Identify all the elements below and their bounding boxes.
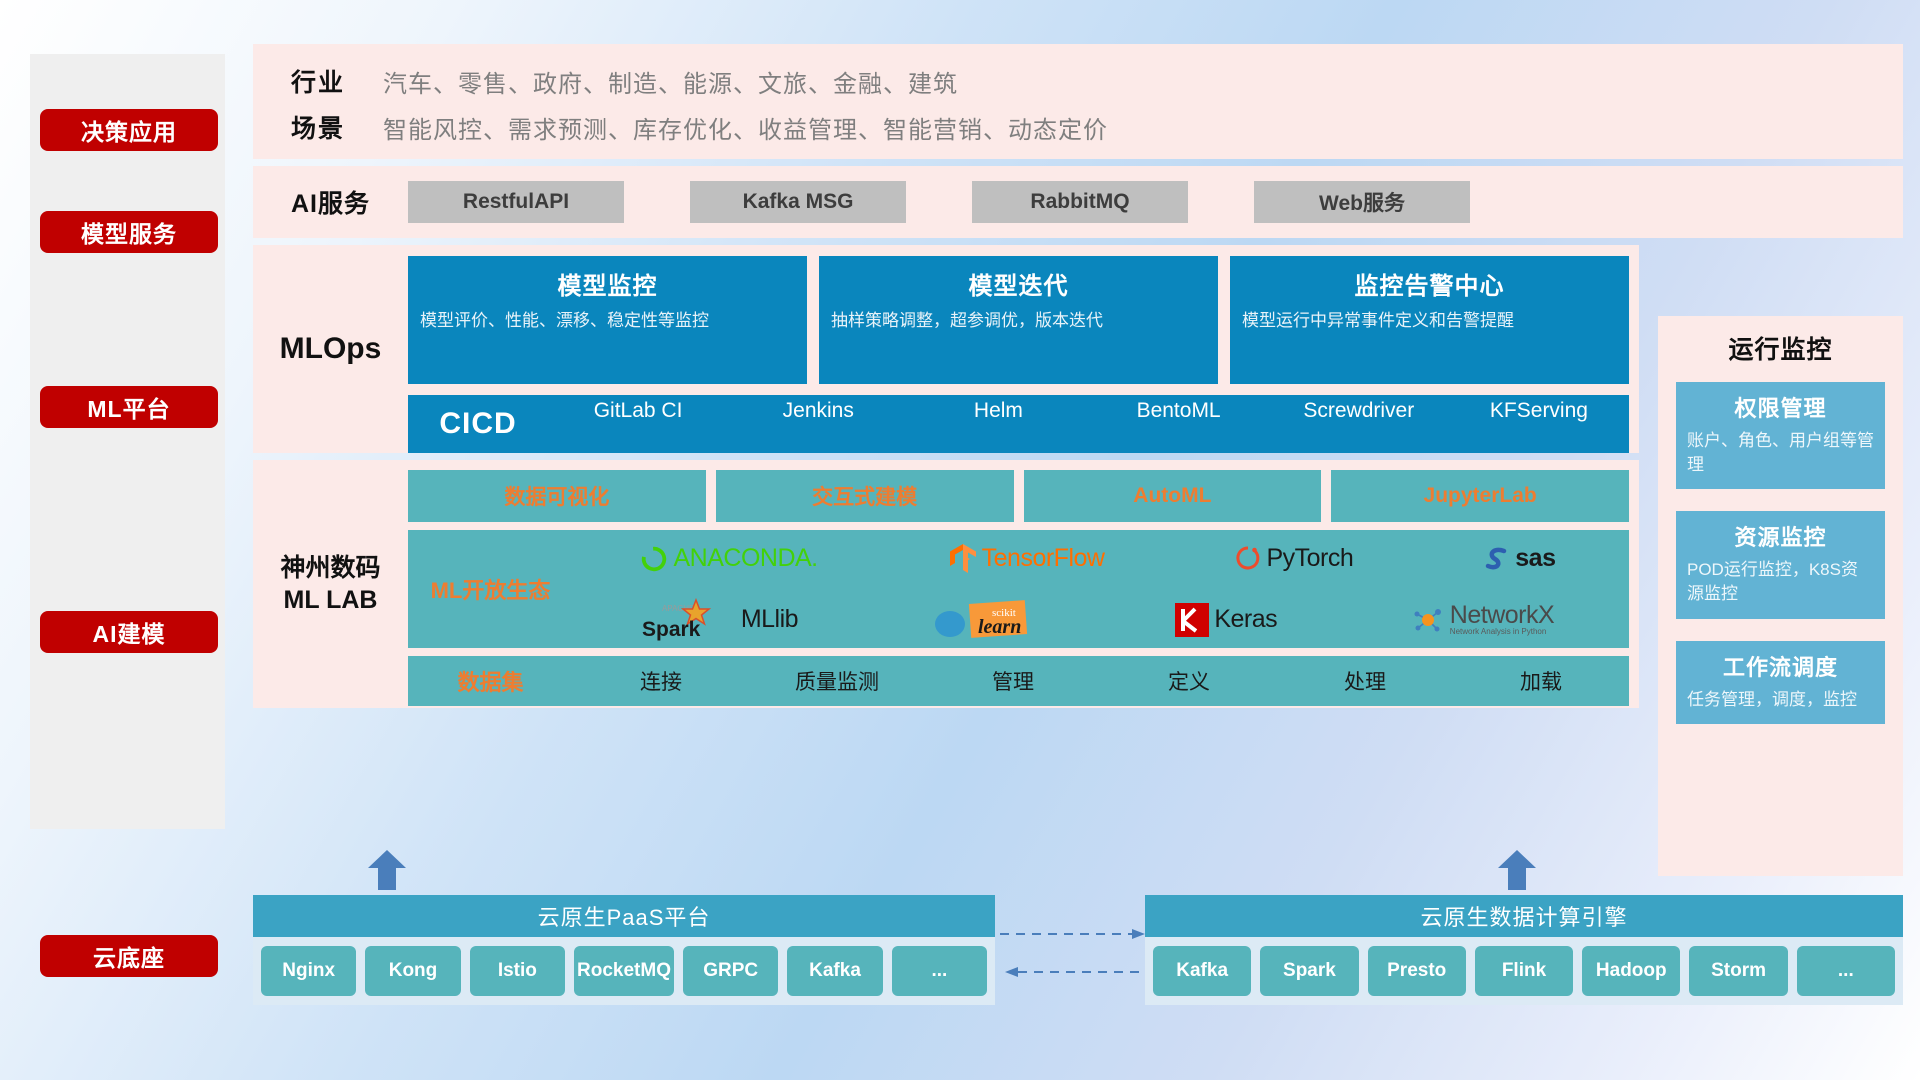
ml-lab-band: 神州数码 ML LAB 数据可视化 交互式建模 AutoML JupyterLa…	[253, 460, 1639, 708]
tool-automl[interactable]: AutoML	[1024, 470, 1322, 522]
mlops-content: 模型监控 模型评价、性能、漂移、稳定性等监控 模型迭代 抽样策略调整，超参调优，…	[408, 245, 1639, 453]
industry-text: 汽车、零售、政府、制造、能源、文旅、金融、建筑	[383, 64, 958, 99]
monitoring-panel: 运行监控 权限管理 账户、角色、用户组等管理 资源监控 POD运行监控，K8S资…	[1658, 316, 1903, 876]
cicd-item-gitlab-ci[interactable]: GitLab CI	[548, 397, 728, 451]
architecture-stack: 行业 汽车、零售、政府、制造、能源、文旅、金融、建筑 场景 智能风控、需求预测、…	[253, 44, 1903, 708]
mlops-card-alert-center[interactable]: 监控告警中心 模型运行中异常事件定义和告警提醒	[1230, 256, 1629, 384]
dashed-connector-right-icon	[1000, 928, 1150, 940]
engine-chip-flink[interactable]: Flink	[1475, 946, 1573, 996]
ai-service-label: AI服务	[253, 184, 408, 220]
sas-logo-text: sas	[1515, 544, 1555, 573]
industry-label: 行业	[253, 63, 383, 99]
ml-lab-label: 神州数码 ML LAB	[253, 460, 408, 708]
rail-item-label: 模型服务	[81, 215, 177, 249]
logo-line-bottom: APACHE Spark MLlib scikit learn	[573, 591, 1621, 648]
ai-service-chip-list: RestfulAPI Kafka MSG RabbitMQ Web服务	[408, 181, 1470, 223]
ml-ecosystem-label: ML开放生态	[408, 573, 573, 605]
dataset-item-quality-monitor[interactable]: 质量监测	[749, 666, 925, 696]
anaconda-icon	[639, 544, 669, 574]
spark-word-text: Spark	[642, 618, 701, 641]
cicd-title: CICD	[408, 407, 548, 441]
dataset-item-manage[interactable]: 管理	[925, 666, 1101, 696]
pytorch-icon	[1235, 544, 1261, 574]
up-arrow-icon-left	[366, 850, 408, 890]
monitoring-card-permission[interactable]: 权限管理 账户、角色、用户组等管理	[1676, 382, 1885, 489]
card-desc: 模型评价、性能、漂移、稳定性等监控	[420, 309, 795, 334]
ml-ecosystem-row: ML开放生态 ANACONDA.	[408, 530, 1629, 648]
cloud-chip-kong[interactable]: Kong	[365, 946, 460, 996]
cicd-item-jenkins[interactable]: Jenkins	[728, 397, 908, 451]
dataset-item-define[interactable]: 定义	[1101, 666, 1277, 696]
pytorch-logo: PyTorch	[1235, 544, 1353, 574]
card-desc: 抽样策略调整，超参调优，版本迭代	[831, 309, 1206, 334]
card-desc: 任务管理，调度，监控	[1687, 688, 1874, 712]
card-title: 权限管理	[1687, 391, 1874, 423]
anaconda-logo: ANACONDA.	[639, 544, 818, 574]
industry-row: 行业 汽车、零售、政府、制造、能源、文旅、金融、建筑	[253, 58, 1903, 104]
engine-chip-hadoop[interactable]: Hadoop	[1582, 946, 1680, 996]
cloud-paas-chip-list: Nginx Kong Istio RocketMQ GRPC Kafka ...	[253, 937, 995, 1005]
logo-line-top: ANACONDA. TensorFlow	[573, 530, 1621, 587]
cloud-chip-kafka[interactable]: Kafka	[787, 946, 882, 996]
scene-row: 场景 智能风控、需求预测、库存优化、收益管理、智能营销、动态定价	[253, 104, 1903, 150]
card-title: 模型监控	[420, 266, 795, 301]
ml-lab-label-line2: ML LAB	[284, 584, 378, 617]
monitoring-title: 运行监控	[1676, 330, 1885, 366]
cicd-bar: CICD GitLab CI Jenkins Helm BentoML Scre…	[408, 395, 1629, 453]
engine-chip-spark[interactable]: Spark	[1260, 946, 1358, 996]
scene-label: 场景	[253, 109, 383, 145]
scene-text: 智能风控、需求预测、库存优化、收益管理、智能营销、动态定价	[383, 110, 1108, 145]
keras-icon	[1175, 603, 1209, 637]
networkx-icon	[1411, 604, 1445, 636]
card-title: 监控告警中心	[1242, 266, 1617, 301]
card-title: 模型迭代	[831, 266, 1206, 301]
card-desc: 账户、角色、用户组等管理	[1687, 429, 1874, 477]
card-desc: 模型运行中异常事件定义和告警提醒	[1242, 309, 1617, 334]
cloud-chip-more[interactable]: ...	[892, 946, 987, 996]
card-title: 工作流调度	[1687, 650, 1874, 682]
cloud-chip-istio[interactable]: Istio	[470, 946, 565, 996]
dataset-row: 数据集 连接 质量监测 管理 定义 处理 加载	[408, 656, 1629, 706]
cicd-item-helm[interactable]: Helm	[908, 397, 1088, 451]
left-rail: 决策应用 模型服务 ML平台 AI建模	[30, 54, 225, 829]
dataset-item-connect[interactable]: 连接	[573, 666, 749, 696]
card-title: 资源监控	[1687, 520, 1874, 552]
ml-lab-label-line1: 神州数码	[280, 552, 380, 585]
networkx-logo: NetworkX Network Analysis in Python	[1411, 603, 1554, 636]
pytorch-logo-text: PyTorch	[1266, 544, 1353, 573]
spark-mllib-logo: APACHE Spark MLlib	[640, 598, 798, 642]
tool-interactive-modeling[interactable]: 交互式建模	[716, 470, 1014, 522]
rail-item-label: 决策应用	[81, 113, 177, 147]
dataset-item-process[interactable]: 处理	[1277, 666, 1453, 696]
mlops-card-list: 模型监控 模型评价、性能、漂移、稳定性等监控 模型迭代 抽样策略调整，超参调优，…	[408, 256, 1629, 384]
cicd-item-screwdriver[interactable]: Screwdriver	[1269, 397, 1449, 451]
service-chip-rabbitmq[interactable]: RabbitMQ	[972, 181, 1188, 223]
rail-item-label: AI建模	[93, 615, 166, 649]
rail-item-decision-app[interactable]: 决策应用	[40, 109, 218, 151]
rail-item-ai-modeling[interactable]: AI建模	[40, 611, 218, 653]
ai-service-band: AI服务 RestfulAPI Kafka MSG RabbitMQ Web服务	[253, 166, 1903, 238]
service-chip-restfulapi[interactable]: RestfulAPI	[408, 181, 624, 223]
sas-logo: sas	[1484, 544, 1555, 573]
anaconda-logo-text: ANACONDA.	[674, 544, 818, 573]
sas-icon	[1484, 545, 1510, 573]
ml-ecosystem-logos: ANACONDA. TensorFlow	[573, 530, 1629, 648]
rail-item-model-service[interactable]: 模型服务	[40, 211, 218, 253]
rail-item-ml-platform[interactable]: ML平台	[40, 386, 218, 428]
mlops-card-model-monitoring[interactable]: 模型监控 模型评价、性能、漂移、稳定性等监控	[408, 256, 807, 384]
dataset-item-load[interactable]: 加载	[1453, 666, 1629, 696]
tensorflow-icon	[949, 543, 977, 575]
cloud-chip-nginx[interactable]: Nginx	[261, 946, 356, 996]
keras-logo-text: Keras	[1214, 605, 1277, 634]
tensorflow-logo: TensorFlow	[949, 543, 1105, 575]
mllib-logo-text: MLlib	[741, 605, 798, 634]
cicd-item-bentoml[interactable]: BentoML	[1089, 397, 1269, 451]
mlops-label: MLOps	[253, 245, 408, 453]
service-chip-kafka-msg[interactable]: Kafka MSG	[690, 181, 906, 223]
networkx-logo-text: NetworkX	[1450, 603, 1554, 628]
card-desc: POD运行监控，K8S资源监控	[1687, 558, 1874, 606]
tensorflow-logo-text: TensorFlow	[982, 544, 1105, 573]
engine-chip-storm[interactable]: Storm	[1689, 946, 1787, 996]
spark-icon: APACHE Spark	[640, 598, 736, 642]
service-chip-web-service[interactable]: Web服务	[1254, 181, 1470, 223]
cloud-data-engine-title: 云原生数据计算引擎	[1145, 895, 1903, 937]
cicd-item-kfserving[interactable]: KFServing	[1449, 397, 1629, 451]
mlops-card-model-iteration[interactable]: 模型迭代 抽样策略调整，超参调优，版本迭代	[819, 256, 1218, 384]
engine-chip-more[interactable]: ...	[1797, 946, 1895, 996]
cloud-chip-grpc[interactable]: GRPC	[683, 946, 778, 996]
scenarios-band: 行业 汽车、零售、政府、制造、能源、文旅、金融、建筑 场景 智能风控、需求预测、…	[253, 44, 1903, 159]
learn-word-text: learn	[978, 616, 1021, 638]
mlops-band: MLOps 模型监控 模型评价、性能、漂移、稳定性等监控 模型迭代 抽样策略调整…	[253, 245, 1639, 453]
tool-data-visualization[interactable]: 数据可视化	[408, 470, 706, 522]
engine-chip-kafka[interactable]: Kafka	[1153, 946, 1251, 996]
ml-lab-content: 数据可视化 交互式建模 AutoML JupyterLab ML开放生态 ANA…	[408, 460, 1639, 708]
cloud-data-engine-group: 云原生数据计算引擎 Kafka Spark Presto Flink Hadoo…	[1145, 895, 1903, 1005]
monitoring-card-resource[interactable]: 资源监控 POD运行监控，K8S资源监控	[1676, 511, 1885, 618]
cloud-paas-group: 云原生PaaS平台 Nginx Kong Istio RocketMQ GRPC…	[253, 895, 995, 1005]
up-arrow-icon-right	[1496, 850, 1538, 890]
engine-chip-presto[interactable]: Presto	[1368, 946, 1466, 996]
rail-item-label: ML平台	[87, 390, 170, 424]
scikit-learn-icon: scikit learn	[932, 598, 1042, 642]
cloud-paas-title: 云原生PaaS平台	[253, 895, 995, 937]
cloud-data-engine-chip-list: Kafka Spark Presto Flink Hadoop Storm ..…	[1145, 937, 1903, 1005]
rail-item-label: 云底座	[93, 939, 165, 973]
ml-lab-tool-list: 数据可视化 交互式建模 AutoML JupyterLab	[408, 470, 1629, 522]
dataset-label: 数据集	[408, 665, 573, 697]
tool-jupyterlab[interactable]: JupyterLab	[1331, 470, 1629, 522]
rail-item-cloud-base[interactable]: 云底座	[40, 935, 218, 977]
cloud-chip-rocketmq[interactable]: RocketMQ	[574, 946, 674, 996]
dashed-connector-left-icon	[1000, 966, 1150, 978]
monitoring-card-workflow[interactable]: 工作流调度 任务管理，调度，监控	[1676, 641, 1885, 724]
networkx-subtitle: Network Analysis in Python	[1450, 628, 1554, 636]
keras-logo: Keras	[1175, 603, 1277, 637]
scikit-learn-logo: scikit learn	[932, 598, 1042, 642]
